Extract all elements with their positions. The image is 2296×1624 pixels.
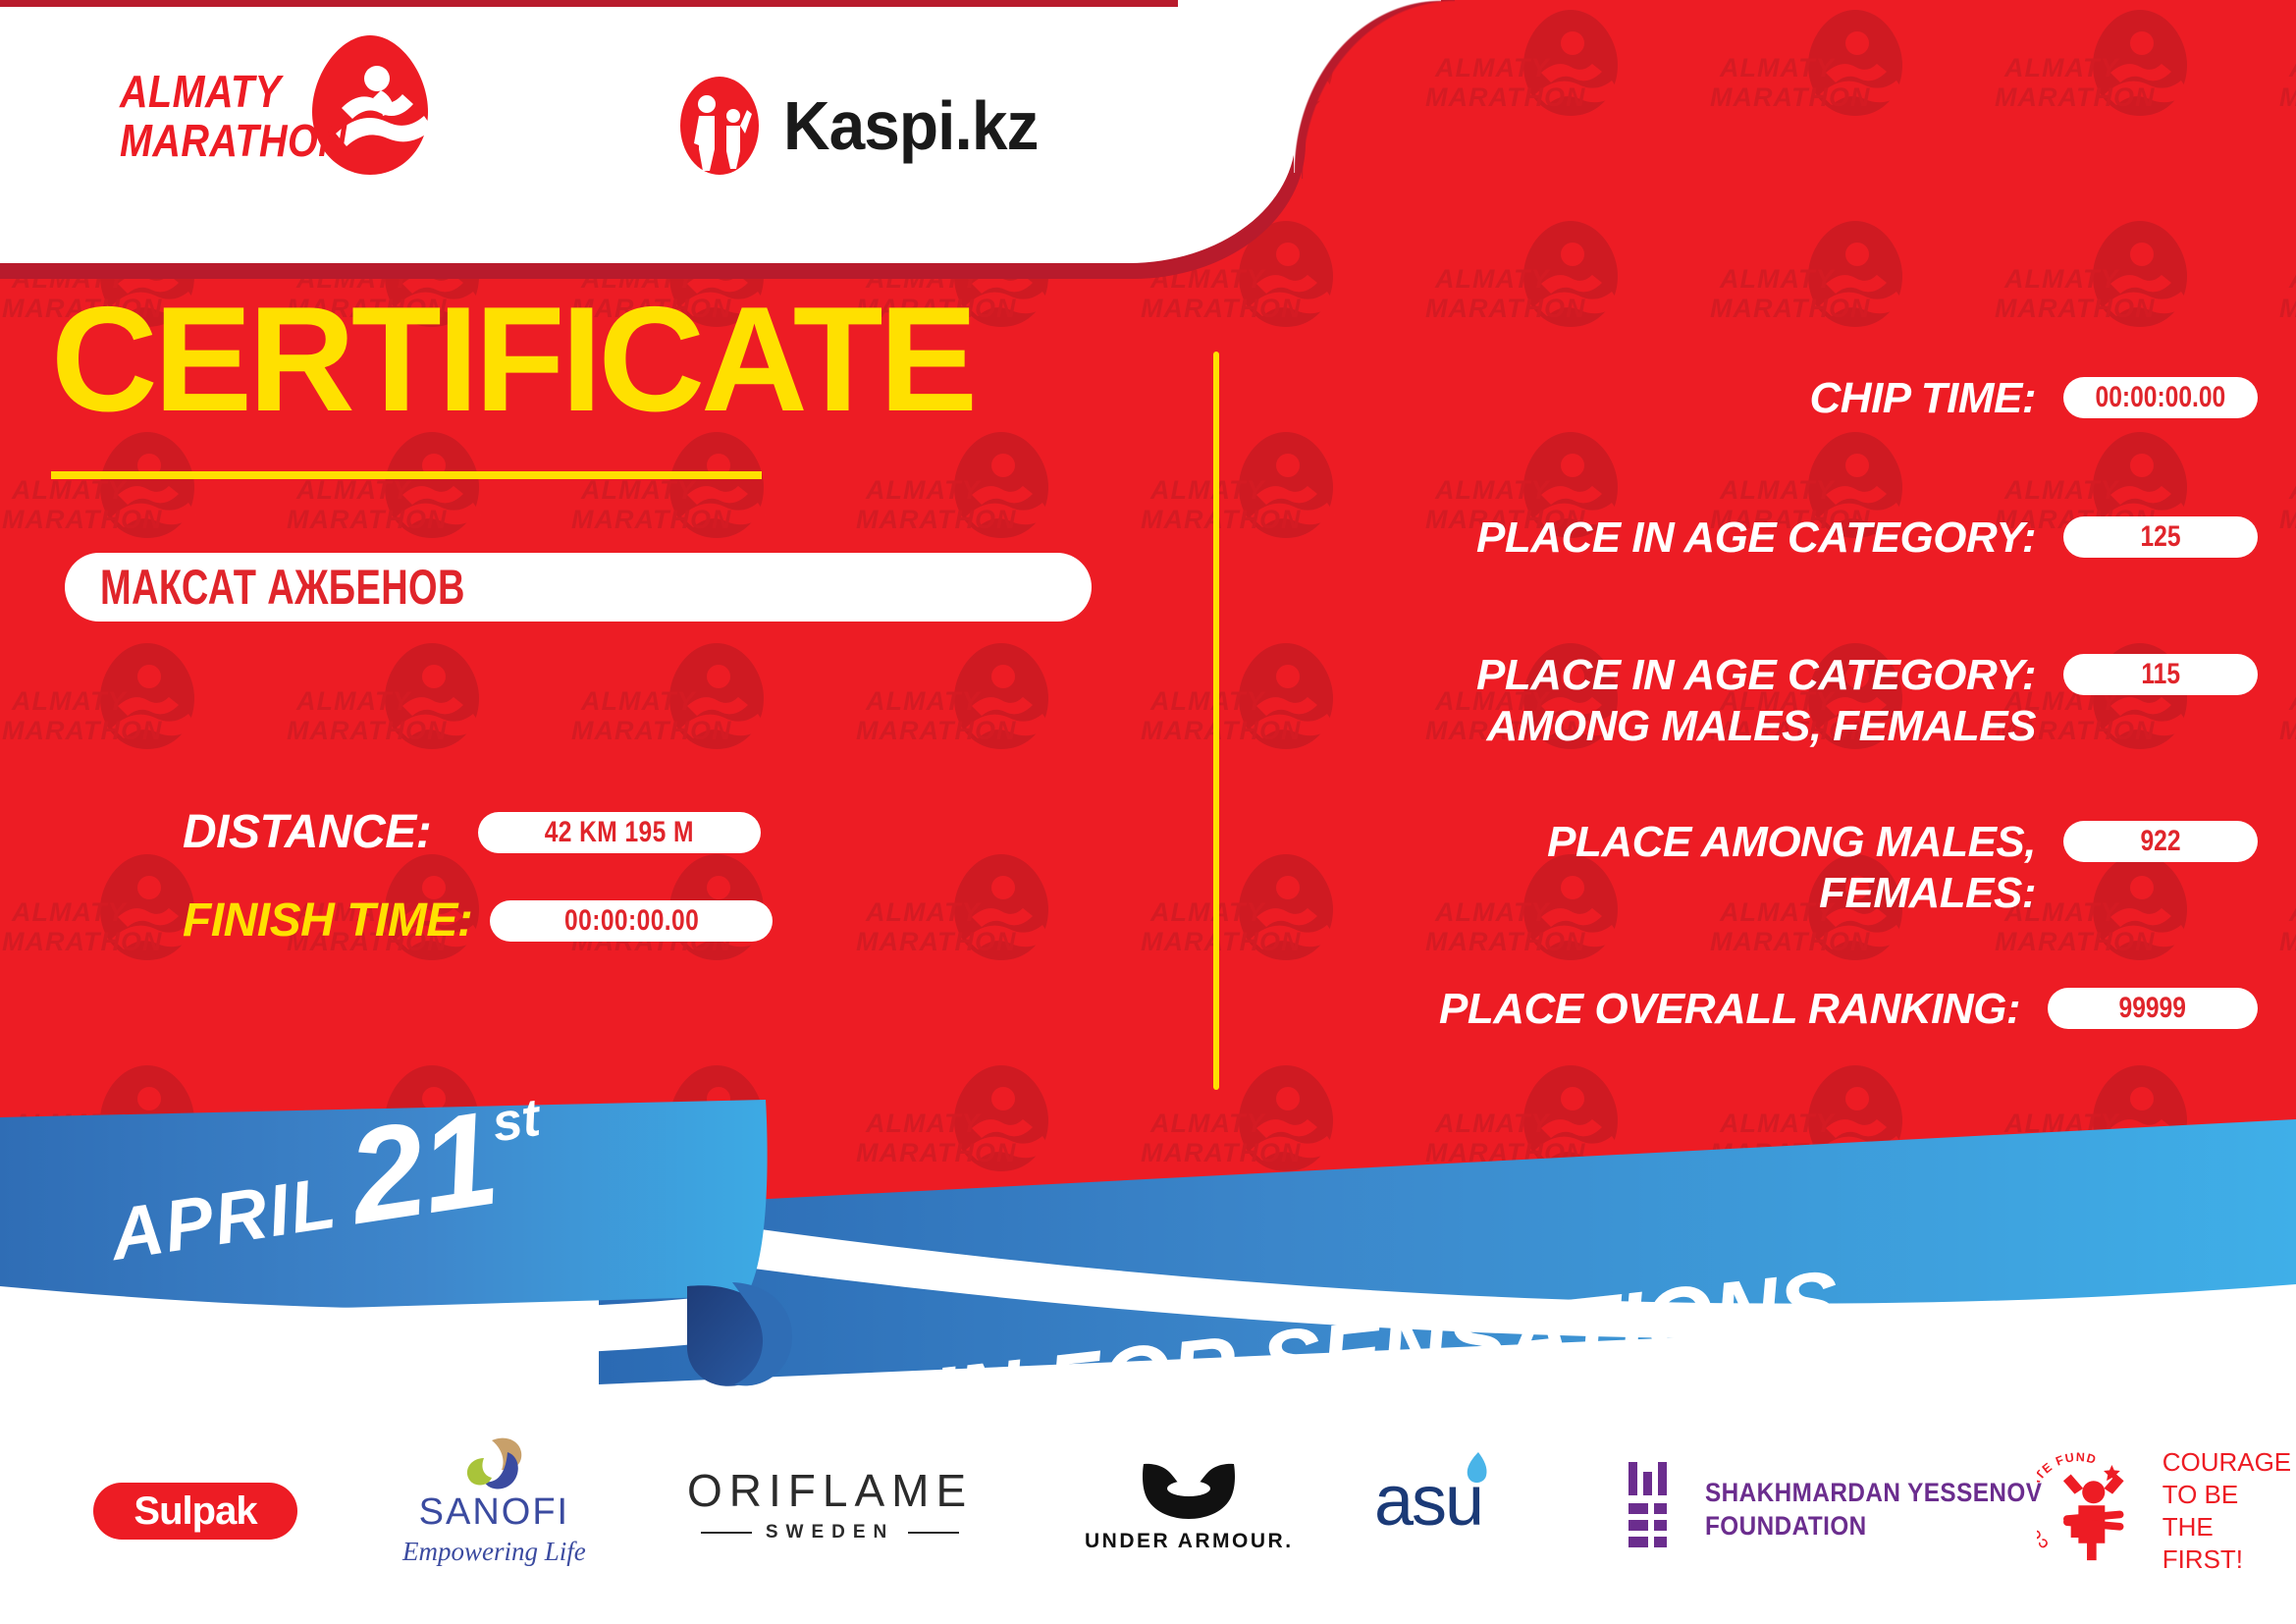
ribbon-month: APRIL <box>106 1166 342 1272</box>
place-among-gender-value-pill: 922 <box>2063 821 2258 862</box>
kaspi-figures-icon <box>677 75 762 177</box>
oriflame-rule-right <box>908 1532 959 1534</box>
participant-name-field: МАКСАТ АЖБЕНОВ <box>65 553 1092 622</box>
place-among-gender-value: 922 <box>2140 827 2180 856</box>
oriflame-rule-left <box>701 1532 752 1534</box>
chip-time-label: CHIP TIME: <box>1276 373 2063 424</box>
asu-drop-icon <box>1459 1450 1492 1489</box>
logo-line-marathon: MARATHON <box>120 116 347 165</box>
stat-row-place-age-category: PLACE IN AGE CATEGORY: 125 <box>1276 513 2258 564</box>
vertical-divider <box>1213 352 1219 1090</box>
distance-value-pill: 42 KM 195 M <box>478 812 761 853</box>
yessenov-bars-icon <box>1625 1460 1683 1558</box>
chip-time-value-pill: 00:00:00.00 <box>2063 377 2258 418</box>
participant-name-value: МАКСАТ АЖБЕНОВ <box>100 563 465 612</box>
sanofi-wordmark: SANOFI <box>419 1493 569 1531</box>
place-among-gender-label: PLACE AMONG MALES, FEMALES: <box>1276 817 2063 919</box>
chip-time-value: 00:00:00.00 <box>2096 383 2226 412</box>
place-age-category-gender-value: 115 <box>2141 660 2180 689</box>
place-overall-value-pill: 99999 <box>2048 988 2258 1029</box>
under-armour-icon <box>1136 1460 1242 1521</box>
distance-label: DISTANCE: <box>183 809 431 856</box>
sponsor-sanofi: SANOFI Empowering Life <box>402 1436 586 1565</box>
ribbon-ordinal: st <box>489 1091 543 1151</box>
sponsor-corporate-fund: CORPORATE FUND COURAGE TO BE THE FIRST! <box>2037 1446 2296 1576</box>
yessenov-wordmark: SHAKHMARDAN YESSENOV FOUNDATION <box>1705 1476 2042 1543</box>
kaspi-wordmark: Kaspi.kz <box>783 91 1038 160</box>
sanofi-tagline: Empowering Life <box>402 1539 586 1565</box>
sulpak-logo: Sulpak <box>93 1483 297 1540</box>
almaty-marathon-wordmark: ALMATY MARATHON <box>120 67 385 165</box>
place-age-category-value-pill: 125 <box>2063 516 2258 558</box>
distance-row: DISTANCE: 42 KM 195 M <box>183 809 761 856</box>
place-overall-label: PLACE OVERALL RANKING: <box>1276 984 2048 1035</box>
under-armour-wordmark: UNDER ARMOUR. <box>1085 1531 1294 1551</box>
title-underline <box>51 471 762 479</box>
sponsor-strip: Sulpak SANOFI Empowering Life ORIFLAME S… <box>0 1399 2296 1624</box>
sponsor-oriflame: ORIFLAME SWEDEN <box>687 1468 973 1542</box>
place-age-category-value: 125 <box>2140 522 2180 552</box>
finish-time-row: FINISH TIME: 00:00:00.00 <box>183 897 773 945</box>
finish-time-label: FINISH TIME: <box>183 897 472 945</box>
distance-value: 42 KM 195 M <box>545 818 694 847</box>
kaspi-logo: Kaspi.kz <box>677 75 1054 177</box>
place-age-category-gender-value-pill: 115 <box>2063 654 2258 695</box>
ribbon-day: 21 <box>341 1091 504 1244</box>
place-overall-value: 99999 <box>2119 994 2186 1023</box>
oriflame-tagline: SWEDEN <box>766 1523 894 1542</box>
sponsor-under-armour: UNDER ARMOUR. <box>1085 1460 1294 1551</box>
place-age-category-gender-label: PLACE IN AGE CATEGORY: AMONG MALES, FEMA… <box>1276 650 2063 752</box>
stat-row-place-overall: PLACE OVERALL RANKING: 99999 <box>1276 984 2258 1035</box>
finish-time-value-pill: 00:00:00.00 <box>490 900 773 942</box>
header-logos: ALMATY MARATHON Kaspi.kz <box>0 0 1296 263</box>
sanofi-bird-icon <box>458 1436 529 1493</box>
stat-row-chip-time: CHIP TIME: 00:00:00.00 <box>1276 373 2258 424</box>
courage-first-icon: CORPORATE FUND <box>2037 1452 2147 1570</box>
sponsor-sulpak: Sulpak <box>93 1483 297 1540</box>
oriflame-wordmark: ORIFLAME <box>687 1468 973 1513</box>
sponsor-asu: asu <box>1374 1466 1482 1537</box>
oriflame-subline: SWEDEN <box>701 1523 959 1542</box>
logo-line-almaty: ALMATY <box>120 67 347 116</box>
finish-time-value: 00:00:00.00 <box>564 906 699 936</box>
stat-row-place-age-category-gender: PLACE IN AGE CATEGORY: AMONG MALES, FEMA… <box>1276 650 2258 752</box>
certificate-canvas: ALMATY MARATHON ALMATY MARATHON <box>0 0 2296 1624</box>
certificate-title: CERTIFICATE <box>51 285 974 434</box>
place-age-category-label: PLACE IN AGE CATEGORY: <box>1276 513 2063 564</box>
courage-first-wordmark: COURAGE TO BE THE FIRST! <box>2163 1446 2296 1576</box>
sponsor-yessenov-foundation: SHAKHMARDAN YESSENOV FOUNDATION <box>1625 1460 2080 1558</box>
stat-row-place-among-gender: PLACE AMONG MALES, FEMALES: 922 <box>1276 817 2258 919</box>
almaty-marathon-logo: ALMATY MARATHON <box>120 53 444 190</box>
